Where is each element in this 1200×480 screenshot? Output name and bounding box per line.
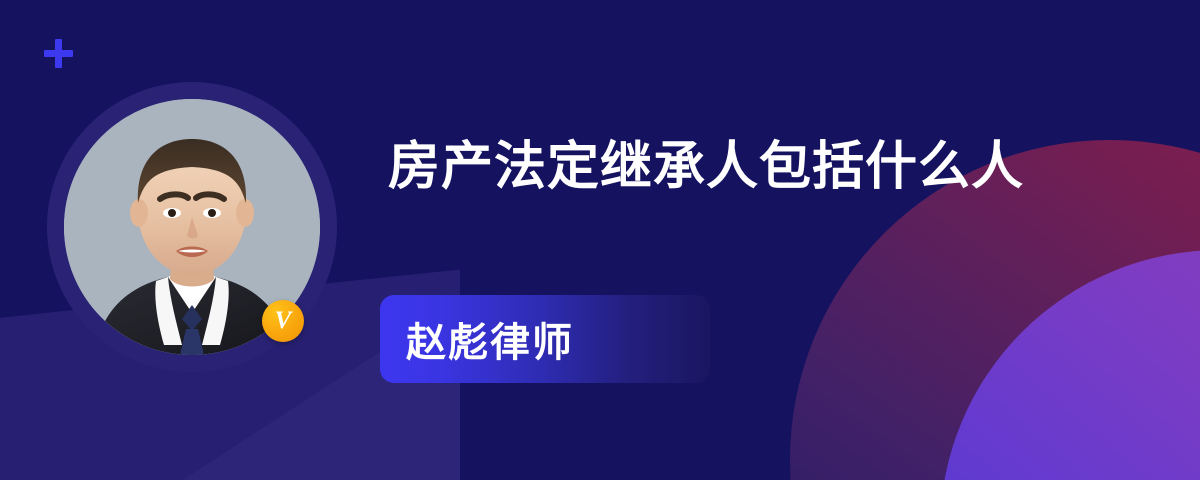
plus-icon <box>44 39 73 68</box>
content-block: 房产法定继承人包括什么人 <box>388 128 1078 206</box>
verified-badge-glyph: V <box>275 308 292 333</box>
avatar[interactable]: V <box>47 82 337 372</box>
verified-badge-icon: V <box>262 300 304 342</box>
page-title: 房产法定继承人包括什么人 <box>388 128 1078 206</box>
lawyer-name-button[interactable]: 赵彪律师 <box>380 295 710 383</box>
plus-icon-vertical-bar <box>55 39 62 68</box>
banner-card: V 房产法定继承人包括什么人 赵彪律师 <box>0 0 1200 480</box>
